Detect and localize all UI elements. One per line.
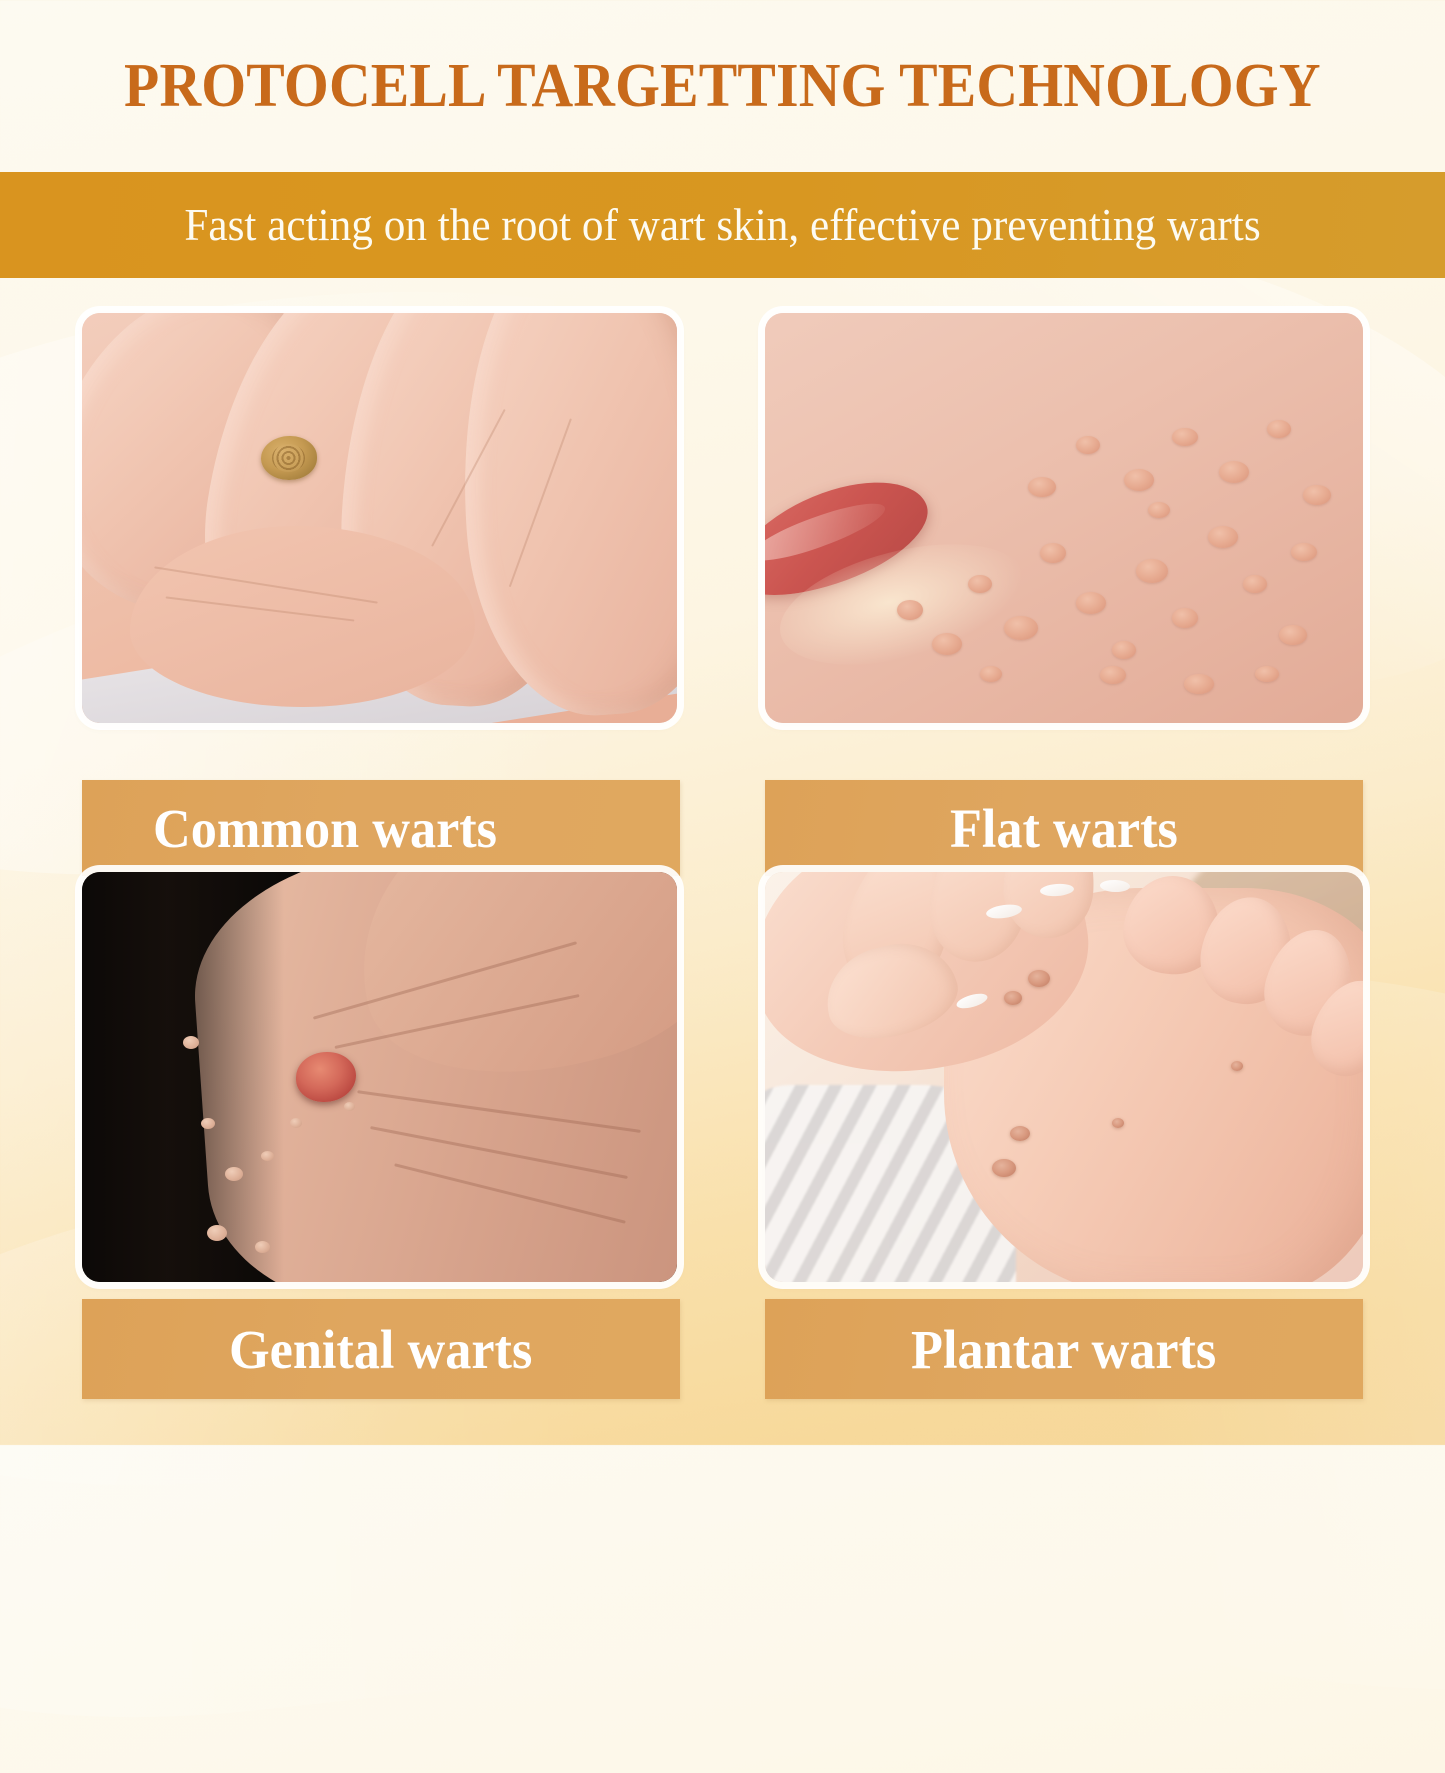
foot-wart-illustration — [765, 872, 1363, 1282]
label-text: Genital warts — [229, 1322, 532, 1377]
card-genital-warts: Genital warts — [82, 872, 680, 1410]
cheek-flatwart-illustration — [765, 313, 1363, 723]
neck-wart-illustration — [82, 872, 677, 1282]
label-common-warts: Common warts — [82, 780, 680, 876]
photo-plantar-warts — [765, 872, 1363, 1282]
label-text: Common warts — [153, 801, 497, 856]
label-genital-warts: Genital warts — [82, 1299, 680, 1399]
header-title-area: PROTOCELL TARGETTING TECHNOLOGY — [0, 0, 1445, 172]
card-plantar-warts: Plantar warts — [765, 872, 1363, 1410]
photo-flat-warts — [765, 313, 1363, 723]
label-text: Plantar warts — [911, 1322, 1216, 1377]
card-flat-warts: Flat warts — [765, 313, 1363, 875]
label-flat-warts: Flat warts — [765, 780, 1363, 876]
page-title: PROTOCELL TARGETTING TECHNOLOGY — [124, 55, 1321, 117]
card-common-warts: Common warts — [82, 313, 680, 875]
wart-type-grid: Common warts — [0, 278, 1445, 1445]
photo-genital-warts — [82, 872, 677, 1282]
hand-wart-illustration — [82, 313, 677, 723]
photo-common-warts — [82, 313, 677, 723]
label-plantar-warts: Plantar warts — [765, 1299, 1363, 1399]
subtitle-banner: Fast acting on the root of wart skin, ef… — [0, 172, 1445, 278]
label-text: Flat warts — [950, 801, 1178, 856]
subtitle-text: Fast acting on the root of wart skin, ef… — [184, 202, 1260, 248]
